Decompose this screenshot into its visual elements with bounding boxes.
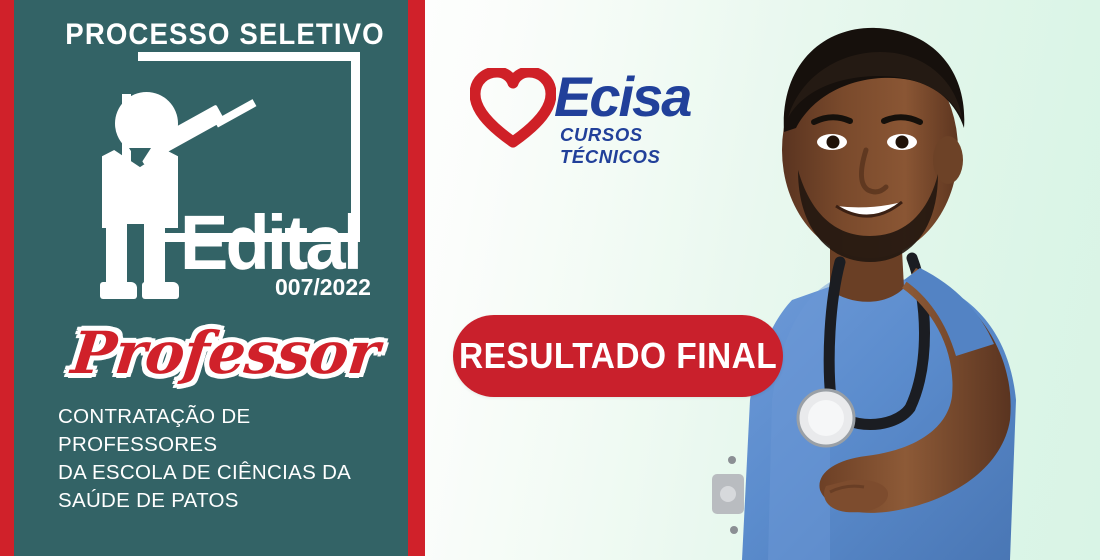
teacher-leg-right [144, 224, 165, 288]
teacher-foot-right [142, 282, 179, 299]
subtitle-line-1: CONTRATAÇÃO DE PROFESSORES [58, 403, 408, 459]
left-panel-content: PROCESSO SELETIVO Edital [28, 0, 422, 556]
right-panel: Ecisa CURSOS TÉCNICOS [425, 0, 1100, 560]
page-title: PROCESSO SELETIVO [44, 18, 406, 52]
teacher-leg-left [106, 224, 127, 288]
edital-banner: PROCESSO SELETIVO Edital [0, 0, 1100, 560]
chalkboard-icon: Edital 007/2022 [100, 52, 360, 302]
teacher-foot-left [100, 282, 137, 299]
edital-number: 007/2022 [275, 274, 371, 301]
professor-script-title: Professor [21, 322, 429, 384]
chalkboard-notch [114, 48, 138, 94]
subtitle-line-2: DA ESCOLA DE CIÊNCIAS DA [58, 459, 408, 487]
subtitle-line-3: SAÚDE DE PATOS [58, 487, 408, 515]
male-nurse-photo [680, 0, 1100, 560]
teacher-head [115, 92, 178, 155]
subtitle-text: CONTRATAÇÃO DE PROFESSORES DA ESCOLA DE … [58, 403, 408, 515]
resultado-final-label: RESULTADO FINAL [459, 335, 777, 377]
ecisa-wordmark: Ecisa [554, 68, 690, 126]
ecisa-logo: Ecisa CURSOS TÉCNICOS [470, 60, 705, 160]
heart-outline-icon [470, 68, 556, 148]
left-panel: PROCESSO SELETIVO Edital [0, 0, 425, 556]
teacher-leg-gap [127, 224, 144, 288]
edital-wordmark: Edital [180, 205, 360, 282]
resultado-final-button[interactable]: RESULTADO FINAL [453, 315, 783, 397]
